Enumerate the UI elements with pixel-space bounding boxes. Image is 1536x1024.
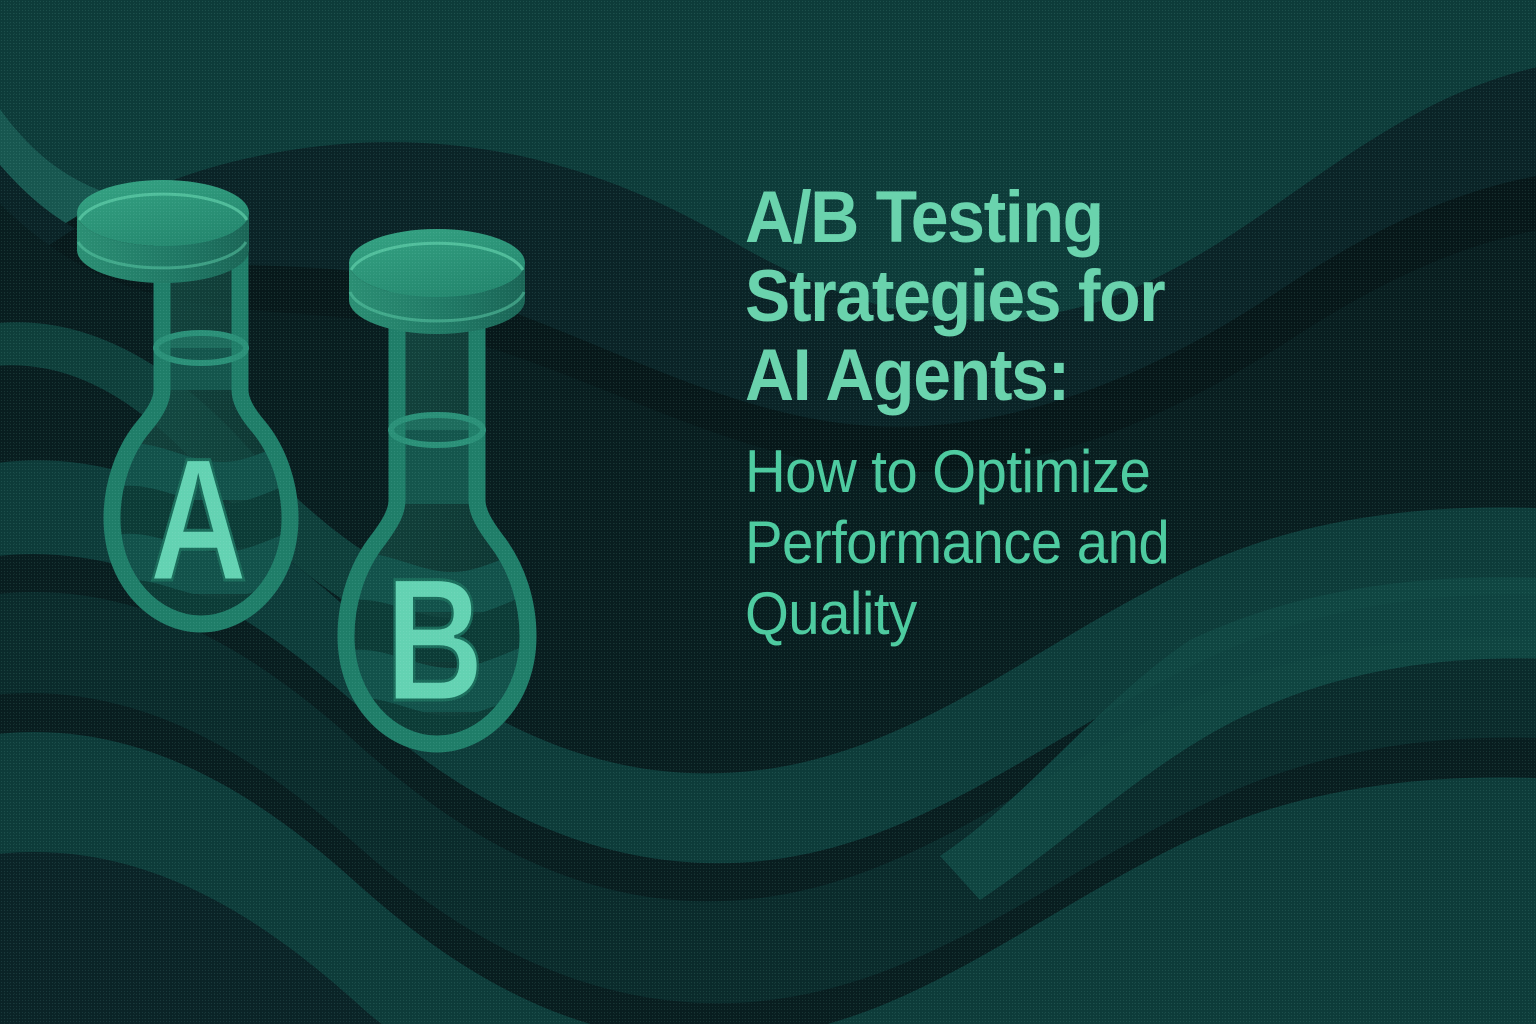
title-line-2: Strategies for — [745, 257, 1396, 336]
hero-banner: A B A/B T — [0, 0, 1536, 1024]
page-title: A/B Testing Strategies for AI Agents: — [745, 178, 1445, 416]
flask-b: B — [330, 229, 580, 760]
subtitle-line-1: How to Optimize — [745, 436, 1403, 507]
flask-b-cap — [349, 229, 525, 334]
flask-b-letter: B — [385, 543, 484, 738]
subtitle-line-3: Quality — [745, 578, 1403, 649]
subtitle-line-2: Performance and — [745, 507, 1403, 578]
hero-text-block: A/B Testing Strategies for AI Agents: Ho… — [745, 178, 1445, 650]
flask-a-letter: A — [149, 423, 248, 618]
flask-a-cap — [77, 180, 249, 283]
flask-illustration: A B — [40, 100, 660, 820]
title-line-3: AI Agents: — [745, 336, 1396, 415]
title-line-1: A/B Testing — [745, 178, 1396, 257]
flask-a: A — [77, 180, 340, 640]
page-subtitle: How to Optimize Performance and Quality — [745, 436, 1445, 650]
